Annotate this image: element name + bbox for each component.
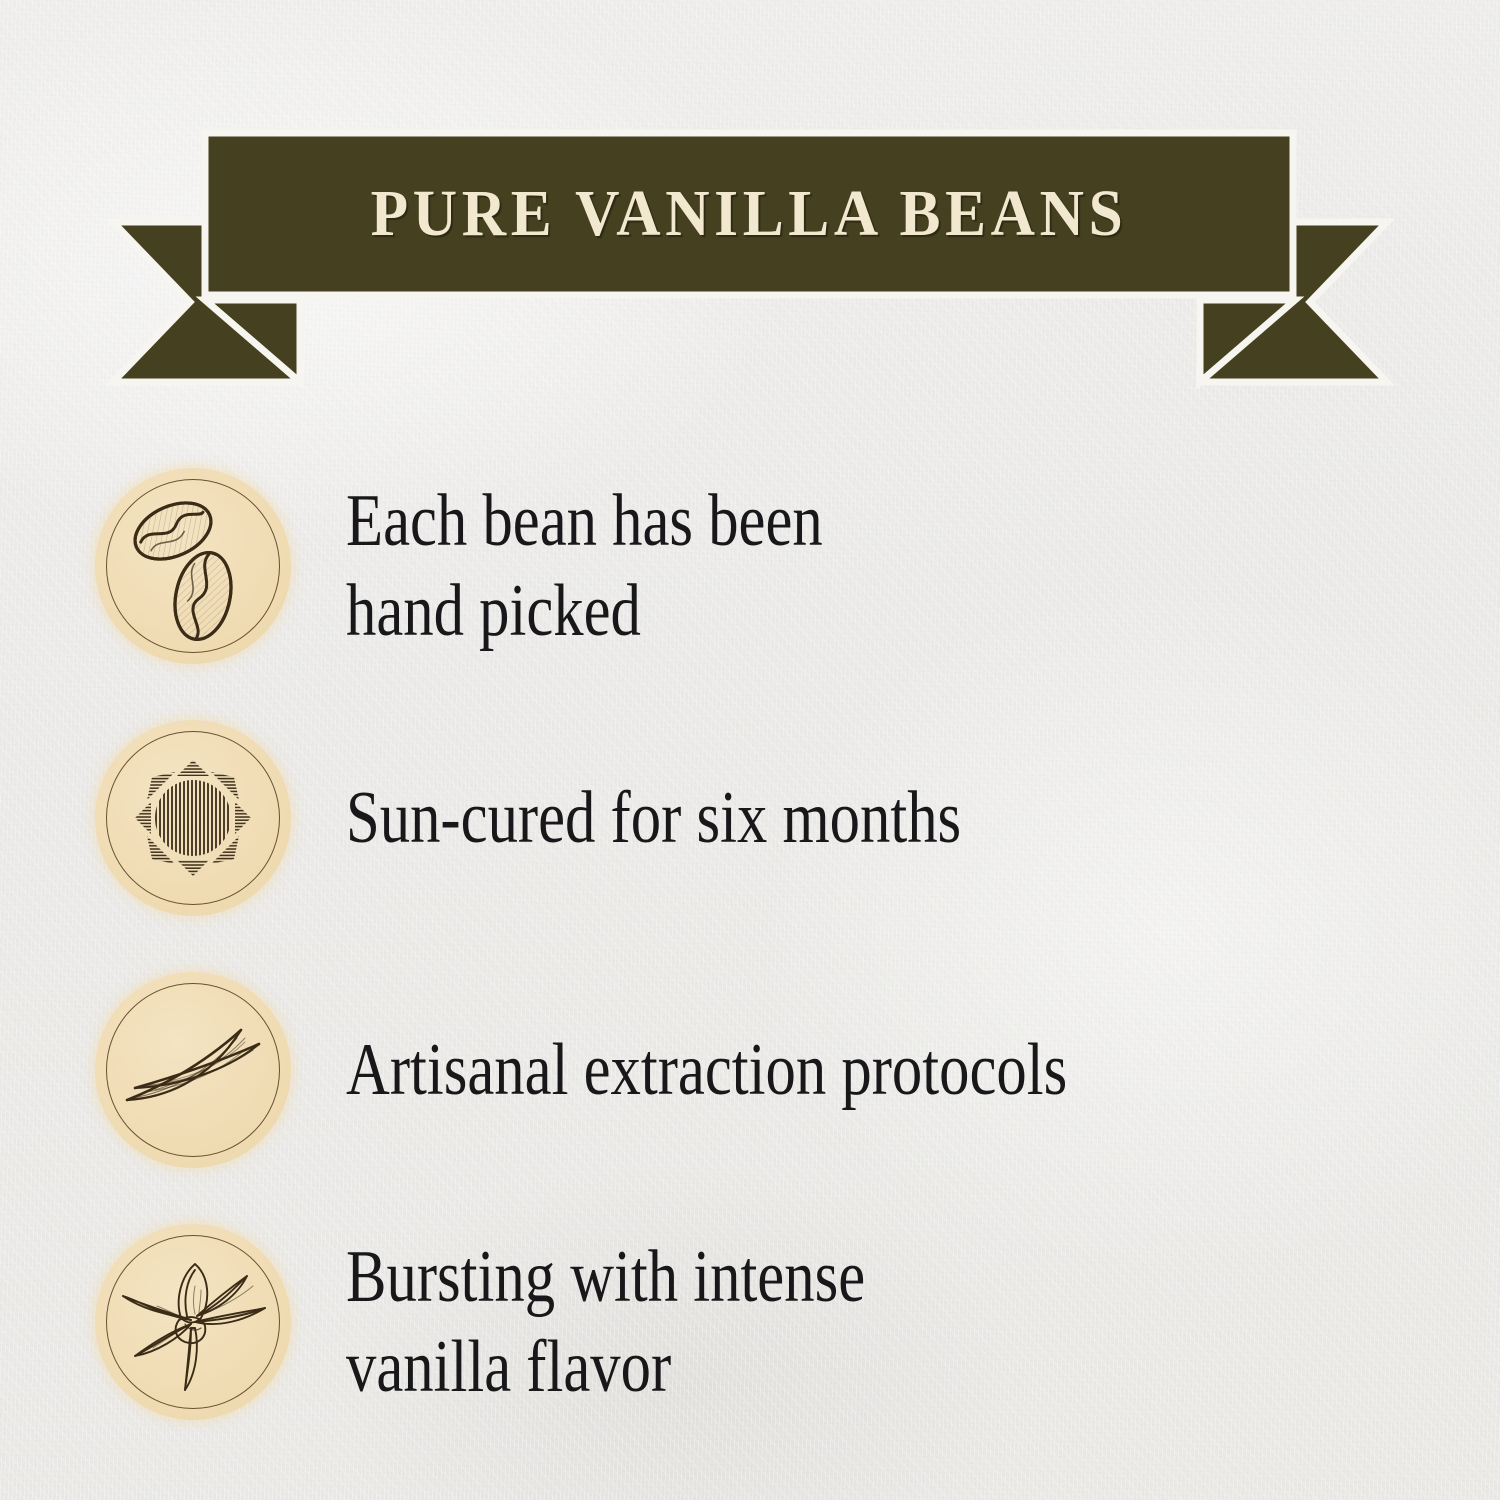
feature-item-3: Artisanal extraction protocols (0, 944, 1500, 1196)
page-title: PURE VANILLA BEANS (243, 133, 1255, 295)
feature-label-1: Each bean has been hand picked (346, 476, 1292, 657)
feature-list: Each bean has been hand picked (0, 440, 1500, 1448)
banner: PURE VANILLA BEANS (0, 0, 1500, 420)
feature-label-2: Sun-cured for six months (346, 773, 1292, 863)
feature-item-2: Sun-cured for six months (0, 692, 1500, 944)
feature-label-4: Bursting with intense vanilla flavor (346, 1232, 1292, 1413)
vanilla-pods-icon (95, 972, 291, 1168)
product-feature-graphic: PURE VANILLA BEANS (0, 0, 1500, 1500)
coffee-beans-icon (95, 468, 291, 664)
feature-item-4: Bursting with intense vanilla flavor (0, 1196, 1500, 1448)
feature-label-3: Artisanal extraction protocols (346, 1025, 1292, 1115)
vanilla-flower-icon (95, 1224, 291, 1420)
feature-item-1: Each bean has been hand picked (0, 440, 1500, 692)
sun-icon (95, 720, 291, 916)
